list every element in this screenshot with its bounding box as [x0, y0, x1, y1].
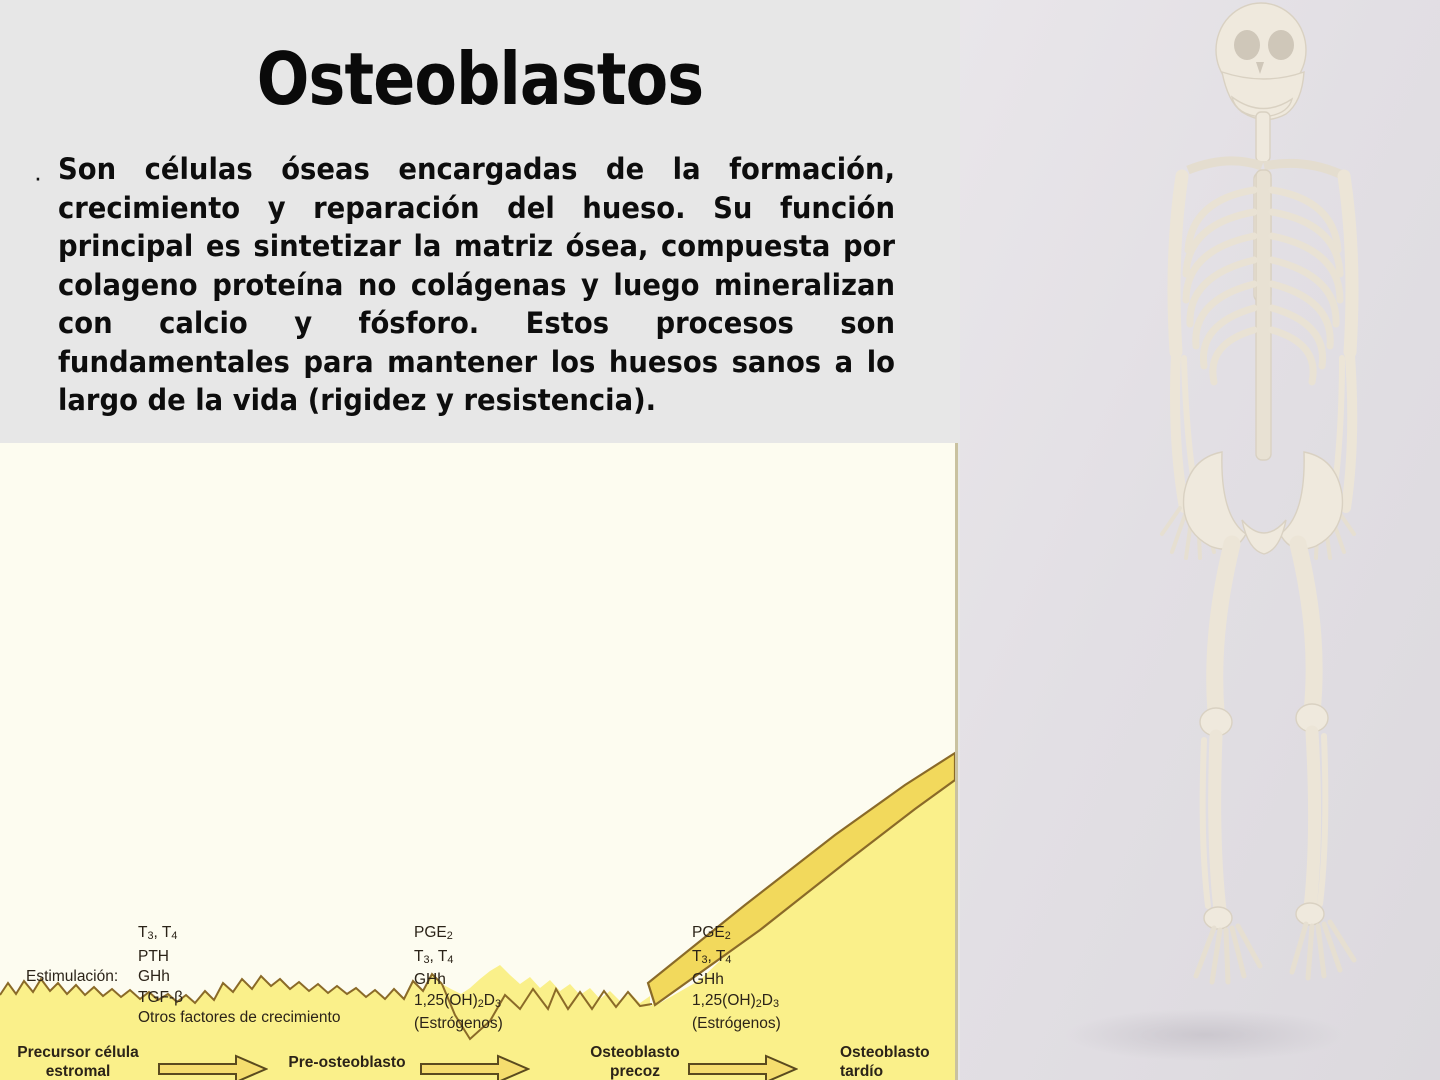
factor-item: TGF-β	[138, 988, 340, 1009]
factor-item: Otros factores de crecimiento	[138, 1008, 340, 1029]
stimulation-label: Estimulación:	[26, 968, 118, 986]
body-paragraph: Son células óseas encargadas de la forma…	[58, 150, 895, 420]
stage-line: precoz	[565, 1062, 705, 1080]
slide-root: Osteoblastos · Son células óseas encarga…	[0, 0, 1440, 1080]
stage-line: tardío	[840, 1062, 958, 1080]
stimulation-column-1: T3, T4 PTH GHh TGF-β Otros factores de c…	[138, 923, 340, 1029]
factor-item: 1,25(OH)2D3	[414, 991, 503, 1015]
body-text-block: · Son células óseas encargadas de la for…	[18, 150, 958, 420]
factor-item: GHh	[692, 970, 781, 991]
osteoblast-differentiation-diagram: Estimulación: T3, T4 PTH GHh TGF-β Otros…	[0, 443, 958, 1080]
factor-item: T3, T4	[414, 947, 503, 971]
bullet-list-item: · Son células óseas encargadas de la for…	[18, 150, 958, 420]
bullet-marker-icon: ·	[18, 150, 58, 196]
factor-item: PTH	[138, 947, 340, 968]
page-title: Osteoblastos	[67, 40, 893, 118]
skeleton-illustration	[960, 0, 1440, 1080]
stimulation-column-2: PGE2 T3, T4 GHh 1,25(OH)2D3 (Estrógenos)	[414, 923, 503, 1035]
factor-item: GHh	[414, 970, 503, 991]
arrow-preosteoblast-to-early	[420, 1054, 530, 1080]
factor-item: T3, T4	[138, 923, 340, 947]
stage-line: Osteoblasto	[565, 1043, 705, 1062]
factor-item: (Estrógenos)	[692, 1014, 781, 1035]
stage-label-early-osteoblast: Osteoblasto precoz	[565, 1043, 705, 1080]
factor-item: (Estrógenos)	[414, 1014, 503, 1035]
factor-item: GHh	[138, 967, 340, 988]
stage-label-late-osteoblast: Osteoblasto tardío	[840, 1043, 958, 1080]
factor-item: T3, T4	[692, 947, 781, 971]
stage-line: Osteoblasto	[840, 1043, 958, 1062]
stage-line: Precursor célula	[8, 1043, 148, 1062]
factor-item: PGE2	[692, 923, 781, 947]
arrow-early-to-late	[688, 1054, 798, 1080]
stimulation-column-3: PGE2 T3, T4 GHh 1,25(OH)2D3 (Estrógenos)	[692, 923, 781, 1035]
stage-line: estromal	[8, 1062, 148, 1080]
factor-item: 1,25(OH)2D3	[692, 991, 781, 1015]
arrow-precursor-to-preosteoblast	[158, 1054, 268, 1080]
stage-label-pre-osteoblast: Pre-osteoblasto	[277, 1053, 417, 1072]
stage-label-precursor: Precursor célula estromal	[8, 1043, 148, 1080]
factor-item: PGE2	[414, 923, 503, 947]
slide-content-column: Osteoblastos · Son células óseas encarga…	[0, 0, 960, 1080]
skeleton-photo	[960, 0, 1440, 1080]
stage-line: Pre-osteoblasto	[277, 1053, 417, 1072]
